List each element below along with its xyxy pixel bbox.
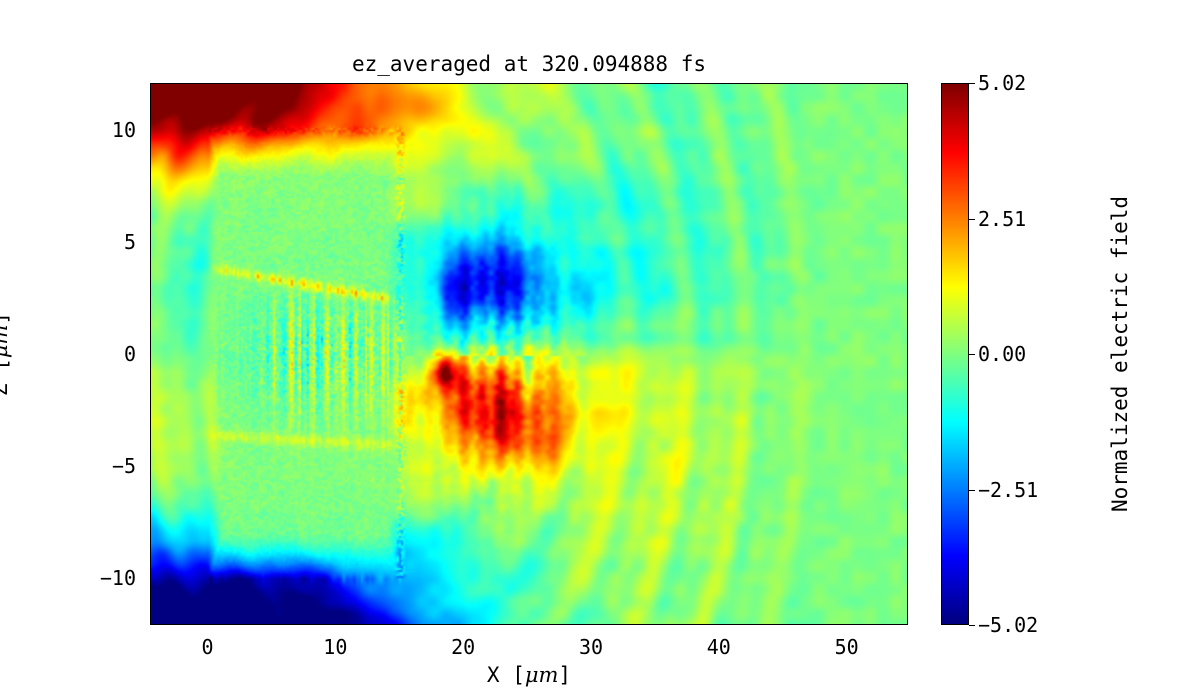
x-tick-3: [592, 624, 593, 625]
colorbar-tick-label-3: −2.51: [978, 478, 1038, 502]
colorbar-tick-label-1: 2.51: [978, 207, 1026, 231]
colorbar-tick-label-2: 0.00: [978, 342, 1026, 366]
x-tick-1: [336, 624, 337, 625]
x-tick-2: [464, 624, 465, 625]
colorbar-tick-0: [969, 83, 975, 84]
colorbar-tick-label-4: −5.02: [978, 613, 1038, 637]
colorbar[interactable]: [941, 83, 969, 625]
colorbar-tick-2: [969, 354, 975, 355]
colorbar-tick-4: [969, 625, 975, 626]
colorbar-tick-1: [969, 219, 975, 220]
x-tick-4: [720, 624, 721, 625]
colorbar-label: Normalized electric field: [1108, 196, 1132, 512]
x-tick-0: [209, 624, 210, 625]
field-canvas: [151, 84, 908, 625]
x-tick-label-0: 0: [201, 635, 213, 659]
x-tick-5: [848, 624, 849, 625]
y-tick-label-2: 0: [16, 342, 136, 366]
x-tick-label-5: 50: [835, 635, 859, 659]
heatmap-axes[interactable]: [150, 83, 908, 625]
colorbar-tick-label-0: 5.02: [978, 71, 1026, 95]
y-tick-label-1: 5: [16, 230, 136, 254]
y-tick-label-3: −5: [16, 454, 136, 478]
field-heatmap-image: [151, 84, 907, 624]
figure-canvas: ez_averaged at 320.094888 fs 1050−5−10 0…: [0, 0, 1200, 700]
colorbar-gradient: [942, 84, 968, 624]
y-tick-label-0: 10: [16, 118, 136, 142]
y-axis-label: Z [μm]: [0, 312, 12, 396]
plot-title: ez_averaged at 320.094888 fs: [150, 52, 908, 76]
colorbar-tick-3: [969, 490, 975, 491]
x-tick-label-3: 30: [579, 635, 603, 659]
x-tick-label-4: 40: [707, 635, 731, 659]
x-tick-label-1: 10: [323, 635, 347, 659]
x-tick-label-2: 20: [451, 635, 475, 659]
y-tick-label-4: −10: [16, 566, 136, 590]
x-axis-label: X [μm]: [150, 663, 908, 687]
